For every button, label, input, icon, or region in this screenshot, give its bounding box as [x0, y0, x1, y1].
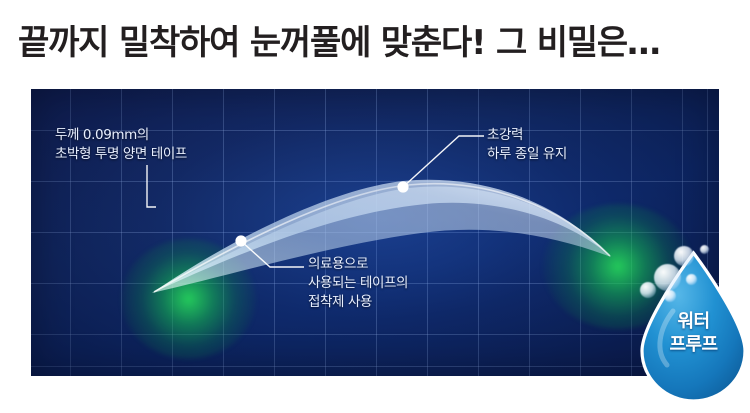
- waterproof-badge: 워터 프루프: [637, 247, 750, 407]
- callout-medical-line-1: 의료용으로: [308, 255, 408, 274]
- callout-medical-line-3: 접착제 사용: [308, 293, 408, 312]
- callout-medical: 의료용으로 사용되는 테이프의 접착제 사용: [308, 255, 408, 312]
- waterproof-badge-text: 워터 프루프: [637, 310, 750, 356]
- callout-strength: 초강력 하루 종일 유지: [487, 126, 567, 164]
- promo-banner: 끝까지 밀착하여 눈꺼풀에 맞춘다! 그 비밀은…: [0, 0, 750, 413]
- callout-thickness-line-2: 초박형 투명 양면 테이프: [55, 145, 187, 164]
- callout-strength-line-1: 초강력: [487, 126, 567, 145]
- page-title: 끝까지 밀착하여 눈꺼풀에 맞춘다! 그 비밀은…: [18, 20, 732, 68]
- callout-thickness-line-1: 두께 0.09mm의: [55, 126, 187, 145]
- glow-left: [121, 239, 256, 359]
- callout-thickness: 두께 0.09mm의 초박형 투명 양면 테이프: [55, 126, 187, 164]
- waterproof-line-1: 워터: [637, 310, 750, 333]
- waterproof-line-2: 프루프: [637, 333, 750, 356]
- callout-strength-line-2: 하루 종일 유지: [487, 145, 567, 164]
- callout-medical-line-2: 사용되는 테이프의: [308, 274, 408, 293]
